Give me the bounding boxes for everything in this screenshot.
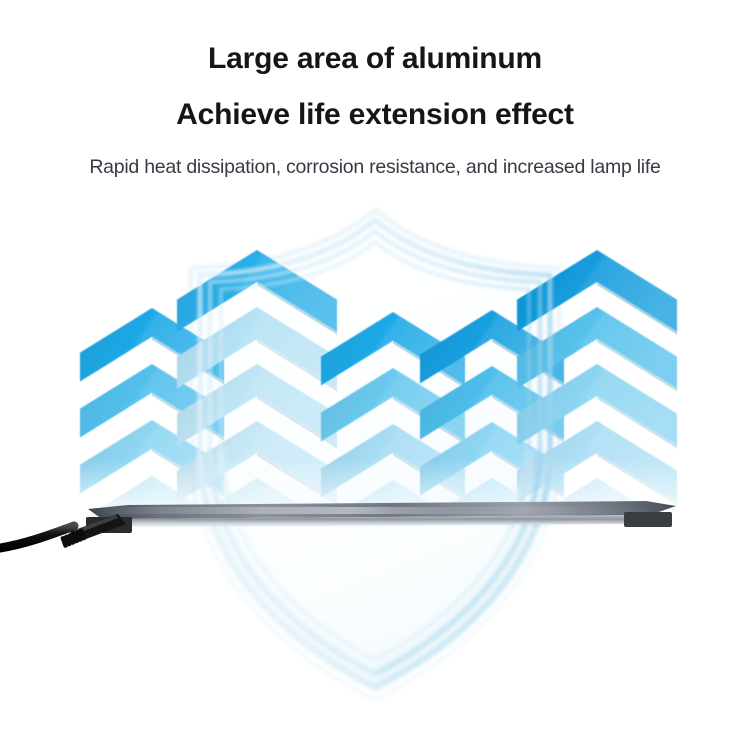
text-block: Large area of aluminum Achieve life exte… [0, 0, 750, 179]
strip-end-clip-right [624, 512, 672, 527]
subheadline: Rapid heat dissipation, corrosion resist… [0, 156, 750, 179]
product-feature-banner: Large area of aluminum Achieve life exte… [0, 0, 750, 750]
headline-line-2: Achieve life extension effect [0, 100, 750, 130]
headline-line-1: Large area of aluminum [0, 44, 750, 74]
strip-specular-highlight [88, 507, 676, 514]
lower-shield-veil [0, 527, 750, 750]
